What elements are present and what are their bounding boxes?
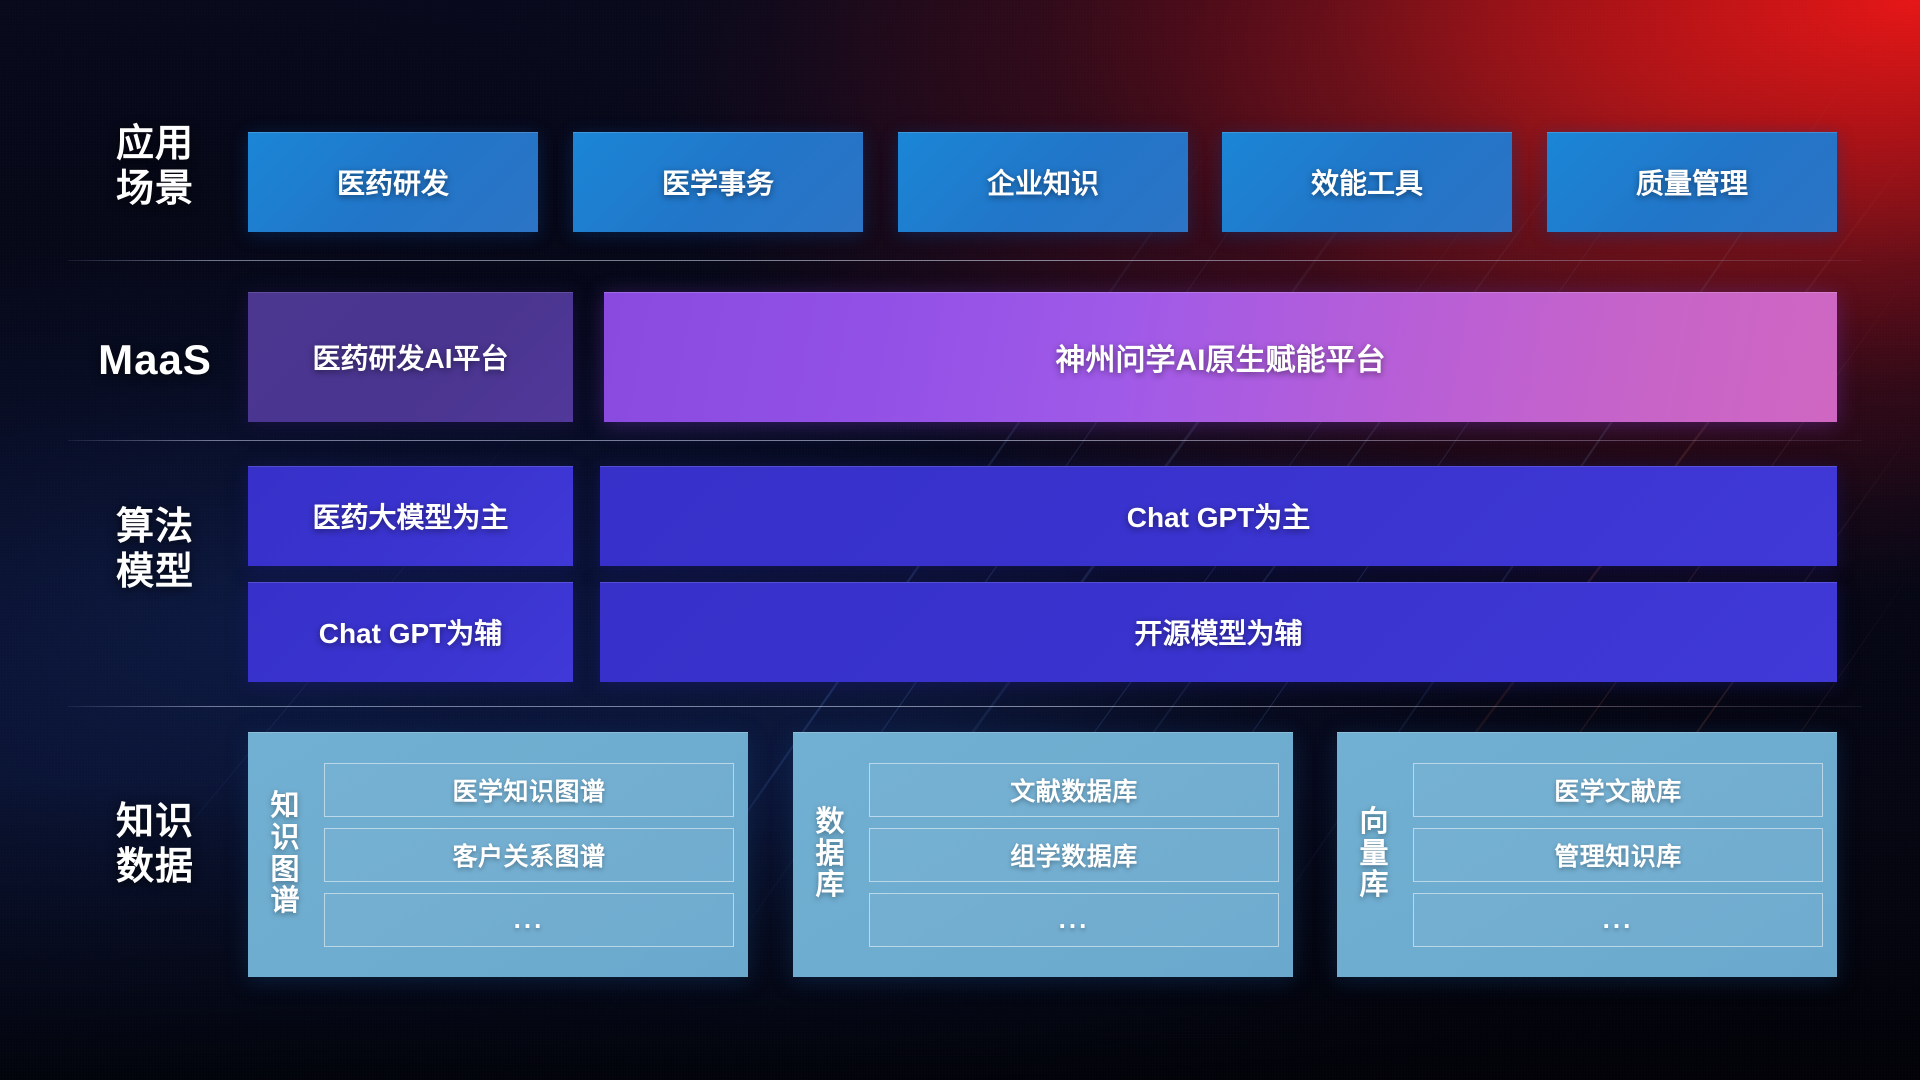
algorithm-box-row1-right[interactable]: 开源模型为辅 xyxy=(600,582,1837,682)
row-label-knowledge: 知识 数据 xyxy=(60,800,250,890)
row-label-application-line1: 应用 xyxy=(60,122,250,167)
algorithm-box-row0-right[interactable]: Chat GPT为主 xyxy=(600,466,1837,566)
knowledge-item[interactable]: 客户关系图谱 xyxy=(324,828,734,882)
row-label-application-line2: 场景 xyxy=(60,167,250,212)
algorithm-box-label: Chat GPT为辅 xyxy=(319,612,503,652)
knowledge-group-title: 知识图谱 xyxy=(258,791,312,919)
knowledge-item[interactable]: 文献数据库 xyxy=(869,763,1279,817)
row-label-algorithm-line2: 模型 xyxy=(60,550,250,595)
app-box-4[interactable]: 质量管理 xyxy=(1547,132,1837,232)
app-box-1[interactable]: 医学事务 xyxy=(573,132,863,232)
knowledge-item[interactable]: 医学文献库 xyxy=(1413,763,1823,817)
knowledge-item[interactable]: 管理知识库 xyxy=(1413,828,1823,882)
divider-algorithm-knowledge xyxy=(68,706,1862,707)
maas-left-box-label: 医药研发AI平台 xyxy=(312,337,508,377)
knowledge-group-2[interactable]: 向量库 医学文献库 管理知识库 ... xyxy=(1337,732,1837,977)
algorithm-box-label: Chat GPT为主 xyxy=(1127,496,1311,536)
maas-left-box[interactable]: 医药研发AI平台 xyxy=(248,292,573,422)
row-label-algorithm: 算法 模型 xyxy=(60,505,250,595)
diagram-canvas: 应用 场景 医药研发 医学事务 企业知识 效能工具 质量管理 MaaS 医药研发… xyxy=(0,0,1920,1080)
algorithm-box-label: 医药大模型为主 xyxy=(312,496,508,536)
knowledge-group-items: 文献数据库 组学数据库 ... xyxy=(857,763,1279,947)
knowledge-group-title: 数据库 xyxy=(803,807,857,903)
row-label-algorithm-line1: 算法 xyxy=(60,505,250,550)
app-box-label: 企业知识 xyxy=(987,162,1099,202)
row-label-knowledge-line2: 数据 xyxy=(60,845,250,890)
app-box-label: 医学事务 xyxy=(662,162,774,202)
row-label-maas-text: MaaS xyxy=(60,335,250,385)
app-box-2[interactable]: 企业知识 xyxy=(898,132,1188,232)
row-label-application: 应用 场景 xyxy=(60,122,250,212)
knowledge-group-items: 医学文献库 管理知识库 ... xyxy=(1401,763,1823,947)
knowledge-item-more[interactable]: ... xyxy=(869,893,1279,947)
knowledge-item[interactable]: 医学知识图谱 xyxy=(324,763,734,817)
app-box-label: 医药研发 xyxy=(337,162,449,202)
algorithm-box-row0-left[interactable]: 医药大模型为主 xyxy=(248,466,573,566)
knowledge-group-items: 医学知识图谱 客户关系图谱 ... xyxy=(312,763,734,947)
app-box-0[interactable]: 医药研发 xyxy=(248,132,538,232)
algorithm-box-row1-left[interactable]: Chat GPT为辅 xyxy=(248,582,573,682)
maas-right-box-label: 神州问学AI原生赋能平台 xyxy=(1056,335,1386,379)
app-box-label: 质量管理 xyxy=(1636,162,1748,202)
algorithm-box-label: 开源模型为辅 xyxy=(1134,612,1302,652)
divider-application-maas xyxy=(68,260,1862,261)
knowledge-group-1[interactable]: 数据库 文献数据库 组学数据库 ... xyxy=(793,732,1293,977)
app-box-label: 效能工具 xyxy=(1311,162,1423,202)
maas-right-box[interactable]: 神州问学AI原生赋能平台 xyxy=(604,292,1837,422)
divider-maas-algorithm xyxy=(68,440,1862,441)
knowledge-item[interactable]: 组学数据库 xyxy=(869,828,1279,882)
knowledge-item-more[interactable]: ... xyxy=(324,893,734,947)
row-label-maas: MaaS xyxy=(60,335,250,385)
knowledge-item-more[interactable]: ... xyxy=(1413,893,1823,947)
knowledge-group-0[interactable]: 知识图谱 医学知识图谱 客户关系图谱 ... xyxy=(248,732,748,977)
app-box-3[interactable]: 效能工具 xyxy=(1222,132,1512,232)
row-label-knowledge-line1: 知识 xyxy=(60,800,250,845)
knowledge-group-title: 向量库 xyxy=(1347,807,1401,903)
